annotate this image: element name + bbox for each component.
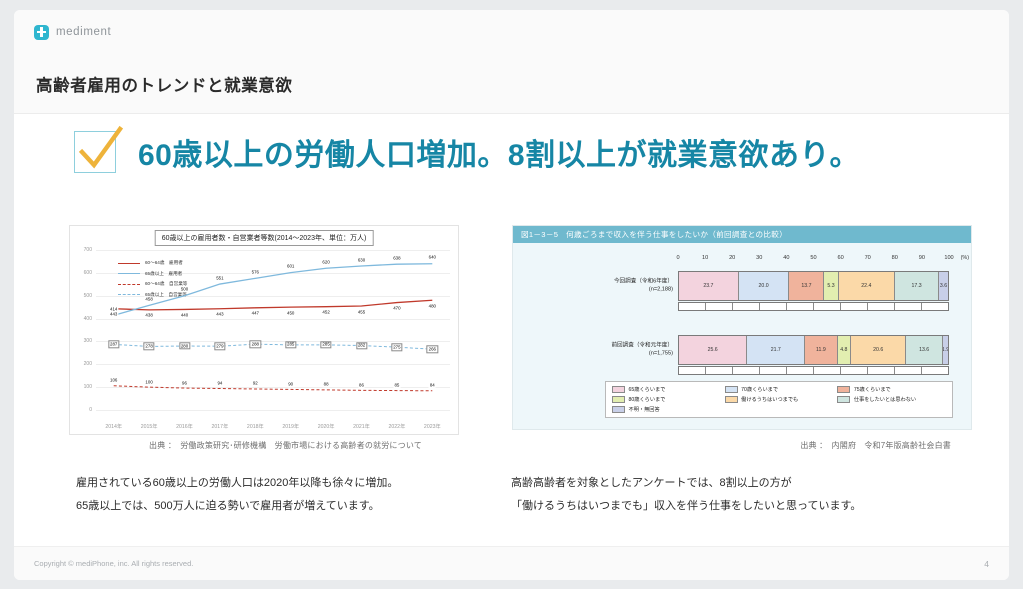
stacked-bar-legend-label: 70歳くらいまで bbox=[741, 386, 778, 393]
line-chart-data-label: 282 bbox=[356, 342, 367, 349]
stacked-bar-x-tick: 100 bbox=[944, 255, 953, 261]
stacked-bar-x-tick: 50 bbox=[810, 255, 816, 261]
brand-bar: mediment bbox=[14, 10, 1009, 54]
stacked-bar-legend-label: 75歳くらいまで bbox=[854, 386, 891, 393]
stacked-bar-row-label-count: (n=1,755) bbox=[611, 350, 673, 358]
slide-footer: Copyright © mediPhone, inc. All rights r… bbox=[14, 546, 1009, 580]
line-chart-x-tick: 2017年 bbox=[212, 423, 229, 430]
line-chart-data-label: 640 bbox=[428, 255, 437, 260]
stacked-bar-scale-cell bbox=[868, 303, 895, 310]
line-chart-data-label: 96 bbox=[181, 380, 188, 385]
line-chart-x-tick: 2021年 bbox=[353, 423, 370, 430]
stacked-bar-legend-label: 65歳くらいまで bbox=[629, 386, 666, 393]
left-body-line-1: 雇用されている60歳以上の労働人口は2020年以降も徐々に増加。 bbox=[76, 472, 398, 495]
line-chart-data-label: 414 bbox=[109, 307, 118, 312]
stacked-bar-scale-cell bbox=[787, 367, 814, 374]
line-chart-data-label: 500 bbox=[180, 287, 189, 292]
line-chart-data-label: 86 bbox=[358, 383, 365, 388]
line-chart-data-label: 438 bbox=[144, 313, 153, 318]
stacked-bar-legend-item: 80歳くらいまで bbox=[612, 396, 721, 403]
stacked-bar-legend: 65歳くらいまで70歳くらいまで75歳くらいまで80歳くらいまで働けるうちはいつ… bbox=[605, 381, 953, 418]
line-chart-data-label: 285 bbox=[285, 341, 296, 348]
line-chart-data-label: 85 bbox=[393, 383, 400, 388]
stacked-bar-scale-cell bbox=[706, 303, 733, 310]
headline-text: 60歳以上の労働人口増加。8割以上が就業意欲あり。 bbox=[138, 130, 860, 174]
line-chart-data-label: 470 bbox=[392, 306, 401, 311]
stacked-bar-legend-label: 仕事をしたいとは思わない bbox=[854, 396, 916, 403]
stacked-bar-scale-cell bbox=[895, 367, 922, 374]
stacked-bar-scale-cell bbox=[679, 367, 706, 374]
stacked-bar-legend-item: 70歳くらいまで bbox=[725, 386, 834, 393]
stacked-bar-scale-cell bbox=[733, 367, 760, 374]
line-chart-data-label: 287 bbox=[108, 341, 119, 348]
stacked-bar-scale-cell bbox=[760, 367, 787, 374]
stacked-bar-segment: 23.7 bbox=[679, 272, 739, 300]
stacked-bar-segment: 5.3 bbox=[824, 272, 838, 300]
line-chart-x-tick: 2023年 bbox=[424, 423, 441, 430]
line-chart-data-label: 279 bbox=[214, 343, 225, 350]
stacked-bar-row: 今回調査（令和6年度）(n=2,188)23.720.013.75.322.41… bbox=[678, 271, 949, 301]
stacked-bar-scale-cell bbox=[922, 303, 948, 310]
line-chart-x-tick: 2014年 bbox=[105, 423, 122, 430]
line-chart-data-label: 455 bbox=[357, 309, 366, 314]
stacked-bar-x-tick: 40 bbox=[783, 255, 789, 261]
stacked-bar-segment: 25.6 bbox=[679, 336, 747, 364]
stacked-bar-scale-cell bbox=[868, 367, 895, 374]
left-source-caption: 出典 ： 労働政策研究･研修機構 労働市場における高齢者の就労について bbox=[149, 440, 422, 451]
line-chart-data-label: 638 bbox=[392, 255, 401, 260]
title-band: 高齢者雇用のトレンドと就業意欲 bbox=[14, 54, 1009, 114]
stacked-bar-x-axis: 0102030405060708090100(%) bbox=[678, 255, 949, 265]
brand-name: mediment bbox=[56, 26, 111, 38]
plus-badge-icon bbox=[34, 25, 49, 40]
stacked-bar-x-tick: 60 bbox=[837, 255, 843, 261]
right-source-caption: 出典 ： 内閣府 令和7年版高齢社会白書 bbox=[800, 440, 951, 451]
stacked-bar-legend-label: 80歳くらいまで bbox=[629, 396, 666, 403]
line-chart-series-line bbox=[114, 386, 433, 391]
line-chart-data-label: 576 bbox=[251, 270, 260, 275]
stacked-bar-row-label-primary: 今回調査（令和6年度） bbox=[614, 278, 673, 286]
line-chart-data-label: 452 bbox=[321, 310, 330, 315]
right-body-line-1: 高齢高齢者を対象としたアンケートでは、8割以上の方が bbox=[511, 472, 861, 495]
stacked-bar-scale-cell bbox=[760, 303, 787, 310]
line-chart-data-label: 440 bbox=[180, 313, 189, 318]
stacked-bar-segment: 22.4 bbox=[839, 272, 896, 300]
line-chart-data-label: 106 bbox=[109, 378, 118, 383]
stacked-bar-scale-strip bbox=[678, 302, 949, 311]
stacked-bar-legend-swatch bbox=[612, 386, 625, 393]
line-chart-data-label: 447 bbox=[251, 311, 260, 316]
stacked-bar-legend-swatch bbox=[837, 386, 850, 393]
line-chart-x-tick: 2022年 bbox=[389, 423, 406, 430]
line-chart: 60歳以上の雇用者数・自営業者等数(2014〜2023年、単位：万人) 0100… bbox=[69, 225, 459, 435]
stacked-bar-x-tick: 30 bbox=[756, 255, 762, 261]
stacked-bar-segment: 13.6 bbox=[906, 336, 943, 364]
line-chart-data-label: 266 bbox=[427, 345, 438, 352]
stacked-bar-row-label: 今回調査（令和6年度）(n=2,188) bbox=[614, 278, 673, 293]
line-chart-data-label: 551 bbox=[215, 275, 224, 280]
stacked-bar-legend-swatch bbox=[725, 386, 738, 393]
stacked-bar-segment: 21.7 bbox=[747, 336, 805, 364]
stacked-bar-row-label: 前回調査（令和元年度）(n=1,755) bbox=[611, 342, 673, 357]
line-chart-data-label: 84 bbox=[429, 383, 436, 388]
line-chart-x-tick: 2015年 bbox=[141, 423, 158, 430]
stacked-bar-legend-swatch bbox=[725, 396, 738, 403]
stacked-bar-segment: 1.9 bbox=[943, 336, 948, 364]
stacked-bar-row: 前回調査（令和元年度）(n=1,755)25.621.711.94.820.61… bbox=[678, 335, 949, 365]
stacked-bar-note: 資料：内閣府「令和6年度高齢社会対策総合調査（高齢者の経済生活に関する調査）」、… bbox=[523, 429, 961, 430]
stacked-bar-x-tick: 20 bbox=[729, 255, 735, 261]
line-chart-data-label: 288 bbox=[250, 340, 261, 347]
stacked-bar-segment: 17.3 bbox=[895, 272, 939, 300]
headline-row: 60歳以上の労働人口増加。8割以上が就業意欲あり。 bbox=[74, 130, 860, 174]
stacked-bar-legend-swatch bbox=[837, 396, 850, 403]
line-chart-data-label: 278 bbox=[143, 343, 154, 350]
right-body-line-2: 「働けるうちはいつまでも」収入を伴う仕事をしたいと思っています。 bbox=[511, 495, 861, 518]
stacked-bar-legend-item: 働けるうちはいつまでも bbox=[725, 396, 834, 403]
line-chart-data-label: 88 bbox=[323, 382, 330, 387]
stacked-bar-segment: 3.6 bbox=[939, 272, 948, 300]
stacked-bar-scale-cell bbox=[706, 367, 733, 374]
copyright-text: Copyright © mediPhone, inc. All rights r… bbox=[34, 559, 193, 568]
stacked-bar-chart: 図1－3－5 何歳ごろまで収入を伴う仕事をしたいか（前回調査との比較） 0102… bbox=[512, 225, 972, 430]
line-chart-data-label: 450 bbox=[286, 310, 295, 315]
stacked-bar-segment: 13.7 bbox=[789, 272, 824, 300]
line-chart-data-label: 90 bbox=[287, 382, 294, 387]
line-chart-data-label: 92 bbox=[252, 381, 259, 386]
left-chart-panel: 60歳以上の雇用者数・自営業者等数(2014〜2023年、単位：万人) 0100… bbox=[69, 225, 459, 435]
line-chart-x-tick: 2016年 bbox=[176, 423, 193, 430]
left-body-line-2: 65歳以上では、500万人に迫る勢いで雇用者が増えています。 bbox=[76, 495, 398, 518]
stacked-bar-scale-cell bbox=[679, 303, 706, 310]
stacked-bar-segment: 20.6 bbox=[851, 336, 906, 364]
line-chart-data-label: 285 bbox=[320, 341, 331, 348]
line-chart-x-tick: 2018年 bbox=[247, 423, 264, 430]
right-body-text: 高齢高齢者を対象としたアンケートでは、8割以上の方が 「働けるうちはいつまでも」… bbox=[511, 472, 861, 517]
stacked-bar-scale-cell bbox=[733, 303, 760, 310]
line-chart-series-line bbox=[114, 344, 433, 349]
line-chart-x-tick: 2019年 bbox=[282, 423, 299, 430]
stacked-bar-scale-cell bbox=[787, 303, 814, 310]
stacked-bar-legend-item: 75歳くらいまで bbox=[837, 386, 946, 393]
stacked-bar-scale-cell bbox=[814, 303, 841, 310]
stacked-bar-unit-label: (%) bbox=[961, 255, 969, 261]
stacked-bar-segment: 4.8 bbox=[838, 336, 852, 364]
stacked-bar-legend-item: 仕事をしたいとは思わない bbox=[837, 396, 946, 403]
stacked-bar-legend-item: 65歳くらいまで bbox=[612, 386, 721, 393]
line-chart-data-label: 100 bbox=[144, 379, 153, 384]
stacked-bar-scale-cell bbox=[922, 367, 948, 374]
stacked-bar-legend-swatch bbox=[612, 396, 625, 403]
page-number: 4 bbox=[984, 559, 989, 569]
page-title: 高齢者雇用のトレンドと就業意欲 bbox=[36, 72, 293, 96]
stacked-bar-x-tick: 0 bbox=[676, 255, 679, 261]
line-chart-data-label: 443 bbox=[109, 312, 118, 317]
stacked-bar-legend-label: 働けるうちはいつまでも bbox=[741, 396, 798, 403]
line-chart-data-label: 94 bbox=[216, 381, 223, 386]
stacked-bar-row-label-count: (n=2,188) bbox=[614, 286, 673, 294]
right-chart-panel: 図1－3－5 何歳ごろまで収入を伴う仕事をしたいか（前回調査との比較） 0102… bbox=[512, 225, 972, 430]
checkmark-icon bbox=[74, 131, 116, 173]
line-chart-data-label: 280 bbox=[179, 342, 190, 349]
stacked-bar-segment: 20.0 bbox=[739, 272, 790, 300]
stacked-bar-legend-swatch bbox=[612, 406, 625, 413]
slide-canvas: mediment 高齢者雇用のトレンドと就業意欲 60歳以上の労働人口増加。8割… bbox=[14, 10, 1009, 580]
line-chart-data-label: 443 bbox=[215, 312, 224, 317]
stacked-bar-x-tick: 10 bbox=[702, 255, 708, 261]
stacked-bar-scale-cell bbox=[895, 303, 922, 310]
stacked-bar-row-label-primary: 前回調査（令和元年度） bbox=[611, 342, 673, 350]
line-chart-x-tick: 2020年 bbox=[318, 423, 335, 430]
line-chart-data-label: 458 bbox=[144, 297, 153, 302]
stacked-bar-scale-strip bbox=[678, 366, 949, 375]
line-chart-data-label: 275 bbox=[391, 343, 402, 350]
stacked-bar-x-tick: 70 bbox=[865, 255, 871, 261]
stacked-bar-x-tick: 80 bbox=[892, 255, 898, 261]
stacked-bar-legend-item: 不明・無回答 bbox=[612, 406, 721, 413]
stacked-bar-legend-label: 不明・無回答 bbox=[629, 406, 660, 413]
line-chart-data-label: 630 bbox=[357, 257, 366, 262]
stacked-bar-scale-cell bbox=[841, 367, 868, 374]
line-chart-data-label: 601 bbox=[286, 264, 295, 269]
stacked-bar-x-tick: 90 bbox=[919, 255, 925, 261]
left-body-text: 雇用されている60歳以上の労働人口は2020年以降も徐々に増加。 65歳以上では… bbox=[76, 472, 398, 517]
line-chart-data-label: 620 bbox=[321, 260, 330, 265]
stacked-bar-scale-cell bbox=[841, 303, 868, 310]
stacked-bar-segment: 11.9 bbox=[805, 336, 837, 364]
line-chart-data-label: 480 bbox=[428, 304, 437, 309]
stacked-bar-scale-cell bbox=[814, 367, 841, 374]
stacked-bar-title: 図1－3－5 何歳ごろまで収入を伴う仕事をしたいか（前回調査との比較） bbox=[513, 226, 971, 243]
